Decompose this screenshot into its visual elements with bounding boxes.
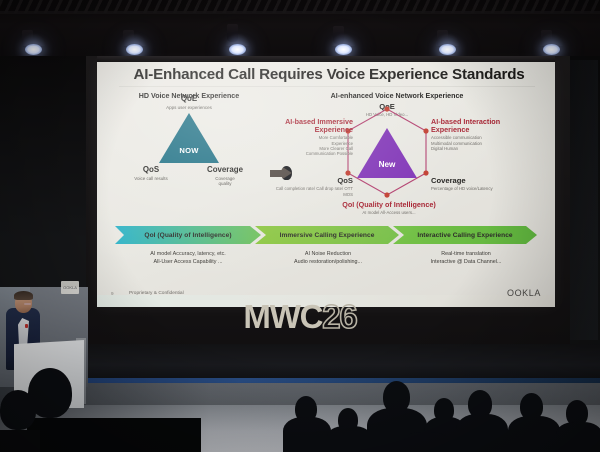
now-triangle-label: NOW [159, 146, 219, 155]
band-qoi-sub: AI model Accuracy, latency, etc. All-Use… [115, 250, 261, 266]
right-vertex-coverage-sub: Percentage of HD voice/Latency [431, 186, 517, 191]
band-immersive-label: Immersive Calling Experience [280, 232, 375, 239]
right-vertex-immersive: AI-based Immersive Experience More Comfo… [283, 118, 353, 156]
left-vertex-qoe-sub: Apps user experiences [154, 105, 224, 110]
spotlight-icon [25, 44, 42, 55]
left-vertex-qos: QoS Voice call results [119, 166, 183, 181]
spotlight-icon [229, 44, 246, 55]
right-vertex-qos: QoS Call completion rate/ Call drop rate… [273, 177, 353, 197]
mwc-wordmark: MWC26 [0, 300, 600, 333]
ookla-logo: OOKLA [507, 288, 541, 298]
left-vertex-coverage-sub: Coverage quality [193, 176, 257, 186]
mwc-wordmark-outline: 26 [322, 298, 356, 335]
spotlight-icon [335, 44, 352, 55]
band-qoi: QoI (Quality of Intelligence) [115, 226, 261, 244]
audience-silhouette [404, 432, 448, 452]
left-vertex-qoe-key: QoE [154, 95, 224, 104]
conference-photo-stage: AI-Enhanced Call Requires Voice Experien… [0, 0, 600, 452]
now-triangle-shape [159, 113, 219, 163]
right-vertex-qoi-sub: AI model All-Access users... [319, 210, 459, 215]
ceiling-truss-rail [0, 11, 600, 14]
left-vertex-coverage-key: Coverage [193, 166, 257, 175]
right-vertex-interaction-sub: Accessible communication Multimodal comm… [431, 135, 509, 150]
band-immersive-sub: AI Noise Reduction Audio restoration/pol… [255, 250, 401, 266]
presentation-slide: AI-Enhanced Call Requires Voice Experien… [97, 62, 555, 307]
band-interactive-label: Interactive Calling Experience [417, 232, 512, 239]
page-number: 9 [111, 291, 114, 296]
left-vertex-qos-sub: Voice call results [119, 176, 183, 181]
right-vertex-qos-key: QoS [273, 177, 353, 185]
brand-wall [0, 344, 600, 382]
left-vertex-qoe: QoE Apps user experiences [154, 95, 224, 110]
speaker-lapel-pin [25, 324, 28, 328]
right-vertex-coverage: Coverage Percentage of HD voice/Latency [431, 177, 517, 192]
new-triangle-shape [357, 128, 417, 178]
foreground-monitor [27, 418, 201, 452]
band-interactive: Interactive Calling Experience [393, 226, 537, 244]
page-title: AI-Enhanced Call Requires Voice Experien… [114, 66, 544, 83]
mwc-wordmark-solid: MWC [243, 298, 322, 335]
new-triangle-label: New [357, 160, 417, 169]
right-vertex-immersive-key: AI-based Immersive Experience [283, 118, 353, 134]
foreground-audience-head [0, 390, 36, 430]
title-divider [119, 86, 535, 87]
left-wall [0, 56, 86, 288]
right-vertex-qoi: QoI (Quality of Intelligence) AI model A… [319, 201, 459, 215]
band-immersive: Immersive Calling Experience [255, 226, 399, 244]
left-vertex-coverage: Coverage Coverage quality [193, 166, 257, 186]
audience-shoulders [508, 416, 560, 452]
spotlight-icon [439, 44, 456, 55]
spotlight-icon [126, 44, 143, 55]
backdrop-logo-text: OOKLA [61, 285, 79, 290]
right-vertex-qos-sub: Call completion rate/ Call drop rate/ OT… [273, 186, 353, 196]
speaker-hair [14, 291, 33, 300]
right-vertex-interaction: AI-based Interaction Experience Accessib… [431, 118, 509, 151]
capability-bands: QoI (Quality of Intelligence) Immersive … [115, 226, 537, 244]
spotlight-icon [543, 44, 560, 55]
right-vertex-immersive-sub: More Comfortable Experience More Clearer… [283, 135, 353, 156]
speaker-headset-mic [24, 303, 31, 305]
audience-shoulders [556, 422, 600, 452]
foreground-object [0, 430, 40, 452]
backdrop-logo: OOKLA [61, 281, 79, 294]
audience-shoulders [327, 426, 371, 452]
band-qoi-label: QoI (Quality of Intelligence) [144, 232, 231, 239]
confidentiality-notice: Proprietary & Confidential [129, 291, 184, 296]
right-vertex-coverage-key: Coverage [431, 177, 517, 185]
audience-shoulders [283, 417, 331, 452]
right-panel-heading: AI-enhanced Voice Network Experience [307, 92, 487, 100]
band-interactive-sub: Real-time translation Interactive @ Data… [393, 250, 539, 266]
right-vertex-qoi-key: QoI (Quality of Intelligence) [319, 201, 459, 209]
left-vertex-qos-key: QoS [119, 166, 183, 175]
audience-shoulders [456, 414, 508, 452]
right-vertex-interaction-key: AI-based Interaction Experience [431, 118, 509, 134]
